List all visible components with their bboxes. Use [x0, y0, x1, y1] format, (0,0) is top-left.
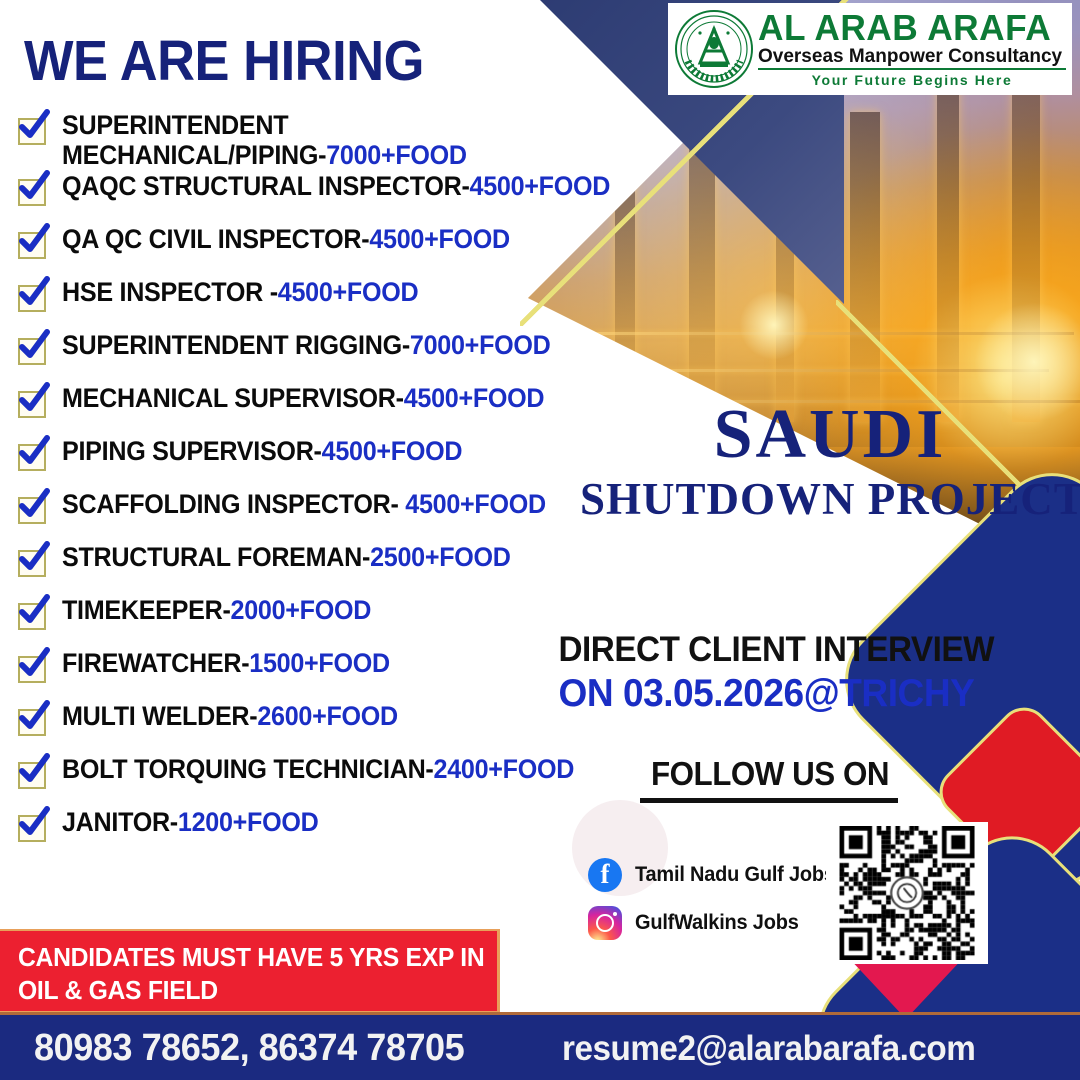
company-logo-card: AL ARAB ARAFA Overseas Manpower Consulta…: [668, 3, 1072, 95]
job-title: SCAFFOLDING INSPECTOR-: [62, 489, 405, 519]
checkbox-checked-icon: [16, 546, 50, 578]
job-title: SUPERINTENDENT RIGGING-: [62, 330, 410, 360]
project-country: SAUDI: [580, 400, 1080, 470]
check-icon: [16, 646, 52, 682]
company-name: AL ARAB ARAFA: [758, 10, 1060, 46]
interview-date-venue: ON 03.05.2026@TRICHY: [559, 672, 958, 716]
job-list-item: SUPERINTENDENT RIGGING-7000+FOOD: [16, 330, 656, 382]
checkbox-checked-icon: [16, 228, 50, 260]
project-title-block: SAUDI SHUTDOWN PROJECT: [580, 400, 1080, 526]
job-list-item: PIPING SUPERVISOR-4500+FOOD: [16, 436, 656, 488]
requirement-line-2: OIL & GAS FIELD: [18, 974, 473, 1007]
interview-heading: DIRECT CLIENT INTERVIEW: [559, 630, 958, 670]
instagram-page-name: GulfWalkins Jobs: [635, 911, 799, 935]
job-title-and-salary: TIMEKEEPER-2000+FOOD: [62, 595, 371, 625]
interview-info-block: DIRECT CLIENT INTERVIEW ON 03.05.2026@TR…: [548, 630, 968, 716]
checkbox-checked-icon: [16, 599, 50, 631]
job-title: QA QC CIVIL INSPECTOR-: [62, 224, 369, 254]
social-link-facebook[interactable]: Tamil Nadu Gulf Jobs: [588, 858, 845, 892]
checkbox-checked-icon: [16, 493, 50, 525]
qr-code-image[interactable]: [830, 826, 984, 960]
job-salary: 2000+FOOD: [231, 595, 372, 625]
checkbox-checked-icon: [16, 705, 50, 737]
follow-us-divider: [640, 798, 898, 803]
job-title: MULTI WELDER-: [62, 701, 257, 731]
contact-footer: 80983 78652, 86374 78705 resume2@alaraba…: [0, 1012, 1080, 1080]
check-icon: [16, 593, 52, 629]
job-salary: 4500+FOOD: [278, 277, 419, 307]
job-title-and-salary: FIREWATCHER-1500+FOOD: [62, 648, 390, 678]
follow-us-block: FOLLOW US ON: [640, 755, 900, 803]
recruitment-poster: AL ARAB ARAFA Overseas Manpower Consulta…: [0, 0, 1080, 1080]
company-seal-icon: [674, 9, 754, 89]
check-icon: [16, 169, 52, 205]
job-title-and-salary: STRUCTURAL FOREMAN-2500+FOOD: [62, 542, 511, 572]
job-list-item: QAQC STRUCTURAL INSPECTOR-4500+FOOD: [16, 171, 656, 223]
job-salary: 1200+FOOD: [178, 807, 319, 837]
checkbox-checked-icon: [16, 652, 50, 684]
contact-email[interactable]: resume2@alarabarafa.com: [562, 1029, 975, 1069]
check-icon: [16, 540, 52, 576]
social-link-instagram[interactable]: GulfWalkins Jobs: [588, 906, 807, 940]
job-salary: 4500+FOOD: [404, 383, 545, 413]
job-title-and-salary: MULTI WELDER-2600+FOOD: [62, 701, 398, 731]
job-title: SUPERINTENDENT: [62, 110, 467, 140]
job-title: TIMEKEEPER-: [62, 595, 231, 625]
job-salary: 7000+FOOD: [326, 140, 467, 170]
job-title-line2: MECHANICAL/PIPING-7000+FOOD: [62, 140, 467, 170]
facebook-icon[interactable]: [588, 858, 622, 892]
job-title-and-salary: PIPING SUPERVISOR-4500+FOOD: [62, 436, 462, 466]
job-salary: 1500+FOOD: [249, 648, 390, 678]
check-icon: [16, 487, 52, 523]
job-title: QAQC STRUCTURAL INSPECTOR-: [62, 171, 470, 201]
instagram-icon[interactable]: [588, 906, 622, 940]
job-salary: 2500+FOOD: [370, 542, 511, 572]
job-list-item: STRUCTURAL FOREMAN-2500+FOOD: [16, 542, 656, 594]
job-salary: 4500+FOOD: [369, 224, 510, 254]
project-type: SHUTDOWN PROJECT: [580, 474, 1080, 526]
job-list-item: SUPERINTENDENTMECHANICAL/PIPING-7000+FOO…: [16, 110, 656, 170]
job-title-and-salary: HSE INSPECTOR -4500+FOOD: [62, 277, 418, 307]
checkbox-checked-icon: [16, 387, 50, 419]
job-title: MECHANICAL SUPERVISOR-: [62, 383, 404, 413]
job-title-and-salary: MECHANICAL SUPERVISOR-4500+FOOD: [62, 383, 544, 413]
job-salary: 4500+FOOD: [405, 489, 546, 519]
job-list-item: JANITOR-1200+FOOD: [16, 807, 656, 859]
job-vacancy-list: SUPERINTENDENTMECHANICAL/PIPING-7000+FOO…: [16, 110, 656, 860]
checkbox-checked-icon: [16, 758, 50, 790]
company-subtitle: Overseas Manpower Consultancy: [758, 47, 1066, 71]
checkbox-checked-icon: [16, 281, 50, 313]
job-list-item: SCAFFOLDING INSPECTOR- 4500+FOOD: [16, 489, 656, 541]
check-icon: [16, 434, 52, 470]
job-title-and-salary: JANITOR-1200+FOOD: [62, 807, 318, 837]
job-salary: 7000+FOOD: [410, 330, 551, 360]
check-icon: [16, 699, 52, 735]
job-title-and-salary: QA QC CIVIL INSPECTOR-4500+FOOD: [62, 224, 510, 254]
job-title-and-salary: BOLT TORQUING TECHNICIAN-2400+FOOD: [62, 754, 574, 784]
company-tagline: Your Future Begins Here: [758, 72, 1066, 88]
job-title: JANITOR-: [62, 807, 178, 837]
checkbox-checked-icon: [16, 334, 50, 366]
requirement-line-1: CANDIDATES MUST HAVE 5 YRS EXP IN: [18, 941, 473, 974]
checkbox-checked-icon: [16, 175, 50, 207]
job-list-item: HSE INSPECTOR -4500+FOOD: [16, 277, 656, 329]
job-title-and-salary: SCAFFOLDING INSPECTOR- 4500+FOOD: [62, 489, 546, 519]
job-title: BOLT TORQUING TECHNICIAN-: [62, 754, 434, 784]
check-icon: [16, 275, 52, 311]
follow-us-heading: FOLLOW US ON: [647, 755, 894, 793]
job-salary: 2600+FOOD: [257, 701, 398, 731]
job-title: HSE INSPECTOR -: [62, 277, 278, 307]
checkbox-checked-icon: [16, 114, 50, 146]
job-title-and-salary: SUPERINTENDENTMECHANICAL/PIPING-7000+FOO…: [62, 110, 467, 170]
facebook-page-name: Tamil Nadu Gulf Jobs: [635, 863, 835, 887]
job-list-item: QA QC CIVIL INSPECTOR-4500+FOOD: [16, 224, 656, 276]
check-icon: [16, 108, 52, 144]
job-title: STRUCTURAL FOREMAN-: [62, 542, 370, 572]
job-salary: 4500+FOOD: [470, 171, 611, 201]
job-list-item: BOLT TORQUING TECHNICIAN-2400+FOOD: [16, 754, 656, 806]
job-title: FIREWATCHER-: [62, 648, 249, 678]
job-title-and-salary: QAQC STRUCTURAL INSPECTOR-4500+FOOD: [62, 171, 610, 201]
whatsapp-qr-code[interactable]: [826, 822, 988, 964]
check-icon: [16, 222, 52, 258]
check-icon: [16, 328, 52, 364]
job-list-item: MECHANICAL SUPERVISOR-4500+FOOD: [16, 383, 656, 435]
pink-triangle-shape: [846, 955, 966, 1019]
job-salary: 4500+FOOD: [322, 436, 463, 466]
checkbox-checked-icon: [16, 811, 50, 843]
contact-phone[interactable]: 80983 78652, 86374 78705: [34, 1027, 464, 1070]
requirement-banner: CANDIDATES MUST HAVE 5 YRS EXP IN OIL & …: [0, 929, 500, 1013]
job-salary: 2400+FOOD: [434, 754, 575, 784]
job-title: PIPING SUPERVISOR-: [62, 436, 322, 466]
check-icon: [16, 381, 52, 417]
checkbox-checked-icon: [16, 440, 50, 472]
job-title-and-salary: SUPERINTENDENT RIGGING-7000+FOOD: [62, 330, 550, 360]
check-icon: [16, 805, 52, 841]
check-icon: [16, 752, 52, 788]
page-title: WE ARE HIRING: [24, 28, 424, 94]
